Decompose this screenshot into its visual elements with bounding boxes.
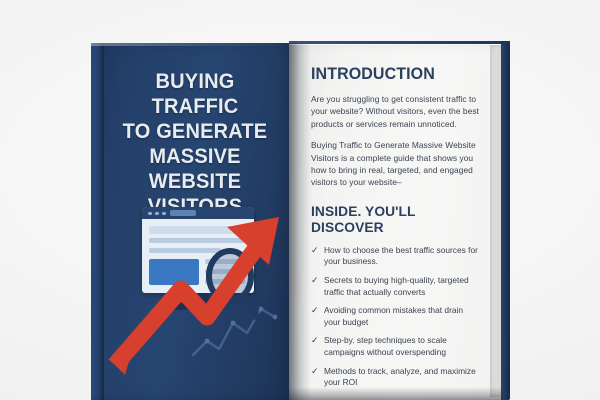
- list-item: ✓ Methods to track, analyze, and maximiz…: [311, 366, 479, 389]
- list-item-label: Methods to track, analyze, and maximize …: [324, 366, 476, 388]
- book-left-cover-page: BUYING TRAFFIC TO GENERATE MASSIVE WEBSI…: [91, 43, 299, 400]
- red-growth-arrow-icon: [103, 205, 289, 375]
- screenshot-canvas: BUYING TRAFFIC TO GENERATE MASSIVE WEBSI…: [0, 0, 600, 400]
- back-cover-top-edge: [289, 41, 510, 44]
- list-item: ✓ Secrets to buying high-quality, target…: [311, 275, 479, 298]
- check-icon: ✓: [311, 305, 319, 317]
- open-book: BUYING TRAFFIC TO GENERATE MASSIVE WEBSI…: [41, 43, 511, 400]
- list-item-label: Avoiding common mistakes that drain your…: [324, 305, 463, 327]
- check-icon: ✓: [311, 245, 319, 257]
- list-item-label: How to choose the best traffic sources f…: [324, 245, 478, 267]
- inside-youll-discover-heading: INSIDE. YOU'LL DISCOVER: [311, 204, 474, 236]
- check-icon: ✓: [311, 366, 319, 378]
- introduction-heading: INTRODUCTION: [311, 65, 474, 84]
- list-item-label: Step-by. step techniques to scale campai…: [324, 335, 447, 357]
- list-item: ✓ Step-by. step techniques to scale camp…: [311, 335, 479, 358]
- cover-top-highlight: [91, 43, 299, 46]
- right-page-content: INTRODUCTION Are you struggling to get c…: [311, 65, 479, 396]
- list-item: ✓ Avoiding common mistakes that drain yo…: [311, 305, 479, 328]
- intro-paragraph-2: Buying Traffic to Generate Massive Websi…: [311, 139, 479, 189]
- benefits-list: ✓ How to choose the best traffic sources…: [311, 245, 479, 389]
- intro-paragraph-1: Are you struggling to get consistent tra…: [311, 93, 479, 130]
- list-item: ✓ How to choose the best traffic sources…: [311, 245, 479, 268]
- check-icon: ✓: [311, 335, 319, 347]
- check-icon: ✓: [311, 275, 319, 287]
- website-growth-illustration: [99, 199, 291, 384]
- book-right-text-page: INTRODUCTION Are you struggling to get c…: [289, 43, 501, 400]
- list-item-label: Secrets to buying high-quality, targeted…: [324, 275, 469, 297]
- book-cover-title: BUYING TRAFFIC TO GENERATE MASSIVE WEBSI…: [109, 69, 280, 219]
- back-cover-edge: [501, 42, 510, 400]
